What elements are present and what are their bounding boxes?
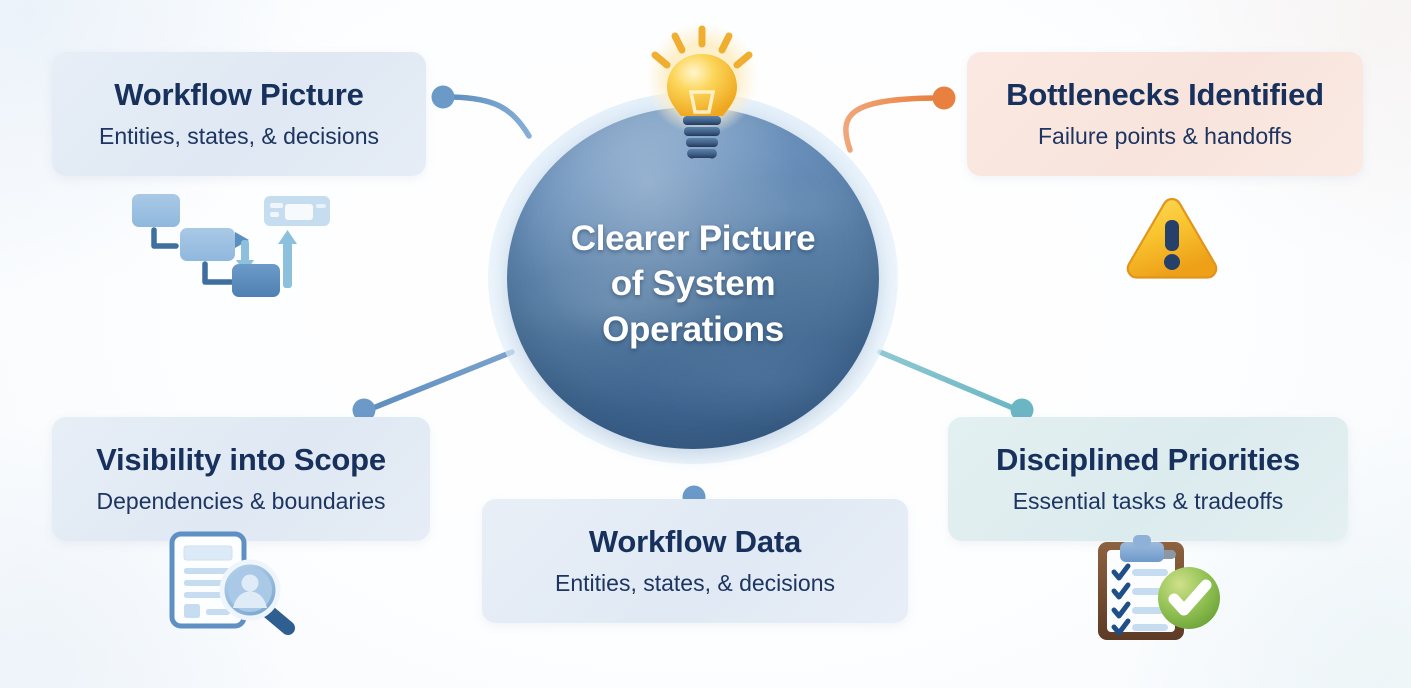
clipboard-check-icon xyxy=(1088,528,1224,646)
document-magnifier-icon xyxy=(162,528,302,640)
warning-triangle-icon xyxy=(1122,192,1222,284)
card-title-workflow-picture: Workflow Picture xyxy=(114,79,363,112)
center-label-line3: Operations xyxy=(571,307,816,353)
center-label-line2: of System xyxy=(571,261,816,307)
card-subtitle-disciplined: Essential tasks & tradeoffs xyxy=(1013,489,1284,514)
card-title-disciplined: Disciplined Priorities xyxy=(996,444,1300,477)
card-subtitle-bottlenecks: Failure points & handoffs xyxy=(1038,124,1292,149)
card-disciplined[interactable]: Disciplined Priorities Essential tasks &… xyxy=(948,417,1348,541)
center-label-line1: Clearer Picture xyxy=(571,216,816,262)
connector-dot-workflow-picture xyxy=(432,86,455,109)
card-visibility[interactable]: Visibility into Scope Dependencies & bou… xyxy=(52,417,430,541)
card-workflow-picture[interactable]: Workflow Picture Entities, states, & dec… xyxy=(52,52,426,176)
card-title-visibility: Visibility into Scope xyxy=(96,444,386,477)
card-subtitle-workflow-data: Entities, states, & decisions xyxy=(555,571,835,596)
card-subtitle-workflow-picture: Entities, states, & decisions xyxy=(99,124,379,149)
card-title-bottlenecks: Bottlenecks Identified xyxy=(1006,79,1324,112)
diagram-canvas: Clearer Picture of System Operations Wor… xyxy=(0,0,1411,688)
center-label: Clearer Picture of System Operations xyxy=(571,216,816,353)
card-bottlenecks[interactable]: Bottlenecks Identified Failure points & … xyxy=(967,52,1363,176)
card-workflow-data[interactable]: Workflow Data Entities, states, & decisi… xyxy=(482,499,908,623)
flowchart-icon xyxy=(122,190,334,302)
lightbulb-icon xyxy=(617,8,787,163)
card-subtitle-visibility: Dependencies & boundaries xyxy=(97,489,386,514)
card-title-workflow-data: Workflow Data xyxy=(589,526,801,559)
connector-dot-bottlenecks xyxy=(933,87,956,110)
